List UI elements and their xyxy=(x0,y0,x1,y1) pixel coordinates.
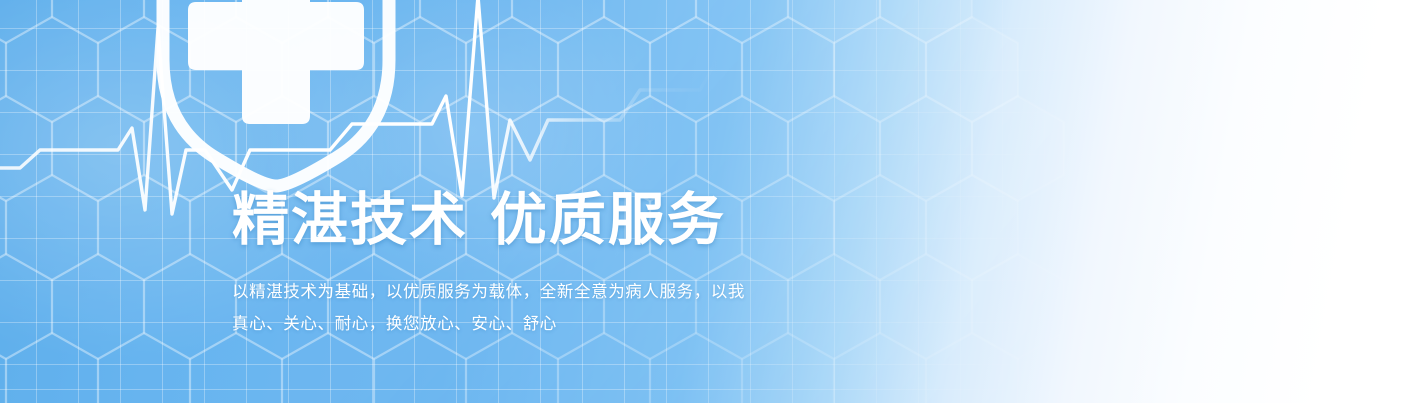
subtitle-line-1: 以精湛技术为基础，以优质服务为载体，全新全意为病人服务，以我 xyxy=(232,276,762,308)
page-title: 精湛技术 优质服务 xyxy=(232,190,852,252)
subtitle-line-2: 真心、关心、耐心，换您放心、安心、舒心 xyxy=(232,308,762,340)
banner-text-block: 精湛技术 优质服务 以精湛技术为基础，以优质服务为载体，全新全意为病人服务，以我… xyxy=(232,190,852,340)
banner-subtitle: 以精湛技术为基础，以优质服务为载体，全新全意为病人服务，以我 真心、关心、耐心，… xyxy=(232,276,762,340)
medical-banner: 精湛技术 优质服务 以精湛技术为基础，以优质服务为载体，全新全意为病人服务，以我… xyxy=(0,0,1423,403)
